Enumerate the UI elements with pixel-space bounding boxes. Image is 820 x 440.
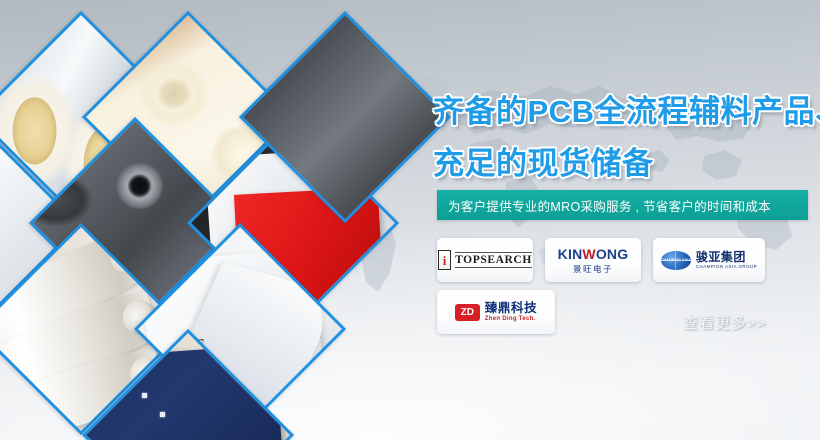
logo-kinwong[interactable]: KINWONG 景旺电子	[545, 238, 641, 282]
collage-tile-color-sheets	[187, 117, 399, 329]
globe-icon: CHAMPION ASIA	[661, 251, 691, 270]
navy-dot-3	[160, 412, 165, 417]
collage-tile-white-tubes	[0, 223, 187, 435]
headline-line-2: 充足的现货储备	[433, 138, 820, 190]
kinwong-part-2: W	[582, 246, 595, 262]
kinwong-part-1: KIN	[558, 246, 583, 262]
banner-headline: 齐备的PCB全流程辅料产品、 充足的现货储备	[433, 86, 820, 190]
collage-tile-adhesive-tape-rolls	[0, 11, 187, 223]
collage-tile-edge-light	[0, 119, 81, 331]
logo-champion-asia[interactable]: CHAMPION ASIA 骏亚集团 CHAMPION ASIA GROUP	[653, 238, 765, 282]
sheet-red	[234, 187, 384, 315]
navy-sheet	[82, 345, 287, 440]
promo-banner: JIE 齐备的PCB全流程辅料产品、 充足的现货储备 为客户提供专业的MRO采购…	[0, 0, 820, 440]
sheet-white	[205, 149, 358, 293]
champion-asia-chinese-name: 骏亚集团	[696, 251, 757, 263]
collage-tile-protective-film: JIE	[134, 223, 346, 435]
kinwong-wordmark: KINWONG	[558, 246, 629, 262]
logo-topsearch[interactable]: i TOPSEARCH	[437, 238, 533, 282]
view-more-link[interactable]: 查看更多>>	[683, 312, 767, 333]
zhending-chinese-name: 臻鼎科技	[485, 302, 537, 315]
logo-zhending[interactable]: ZD 臻鼎科技 Zhen Ding Tech.	[437, 290, 555, 334]
kinwong-part-3: ONG	[596, 246, 629, 262]
globe-icon-label: CHAMPION ASIA	[661, 258, 691, 262]
logo-row-1: i TOPSEARCH KINWONG 景旺电子 CHAMPION ASIA 骏…	[437, 238, 817, 282]
film-sheet	[140, 246, 327, 416]
champion-asia-english-name: CHAMPION ASIA GROUP	[696, 265, 757, 269]
film-peel-corner	[169, 262, 338, 415]
topsearch-wordmark: TOPSEARCH	[455, 252, 532, 268]
collage-tile-cream-rolls	[82, 11, 294, 223]
tube-2	[0, 285, 164, 403]
zhending-mark-icon: ZD	[455, 304, 480, 321]
product-diamond-collage: JIE	[0, 0, 430, 440]
film-brand-mark: JIE	[179, 337, 207, 357]
banner-subtitle-bar: 为客户提供专业的MRO采购服务 , 节省客户的时间和成本	[437, 190, 808, 220]
collage-tile-edge-dark	[239, 11, 451, 223]
topsearch-mark-icon: i	[438, 250, 451, 270]
tube-3	[2, 343, 169, 435]
collage-tile-navy-sheets	[82, 329, 294, 440]
banner-subtitle-text: 为客户提供专业的MRO采购服务 , 节省客户的时间和成本	[437, 196, 771, 215]
banner-content: 齐备的PCB全流程辅料产品、 充足的现货储备 为客户提供专业的MRO采购服务 ,…	[425, 0, 820, 440]
tube-1	[0, 224, 155, 355]
zhending-english-name: Zhen Ding Tech.	[485, 316, 537, 322]
navy-dot-2	[142, 393, 147, 398]
navy-dot-1	[123, 375, 128, 380]
kinwong-chinese-name: 景旺电子	[558, 265, 629, 274]
headline-line-1: 齐备的PCB全流程辅料产品、	[433, 94, 820, 129]
collage-tile-grinding-wheels	[29, 117, 241, 329]
sheet-black	[187, 124, 319, 276]
